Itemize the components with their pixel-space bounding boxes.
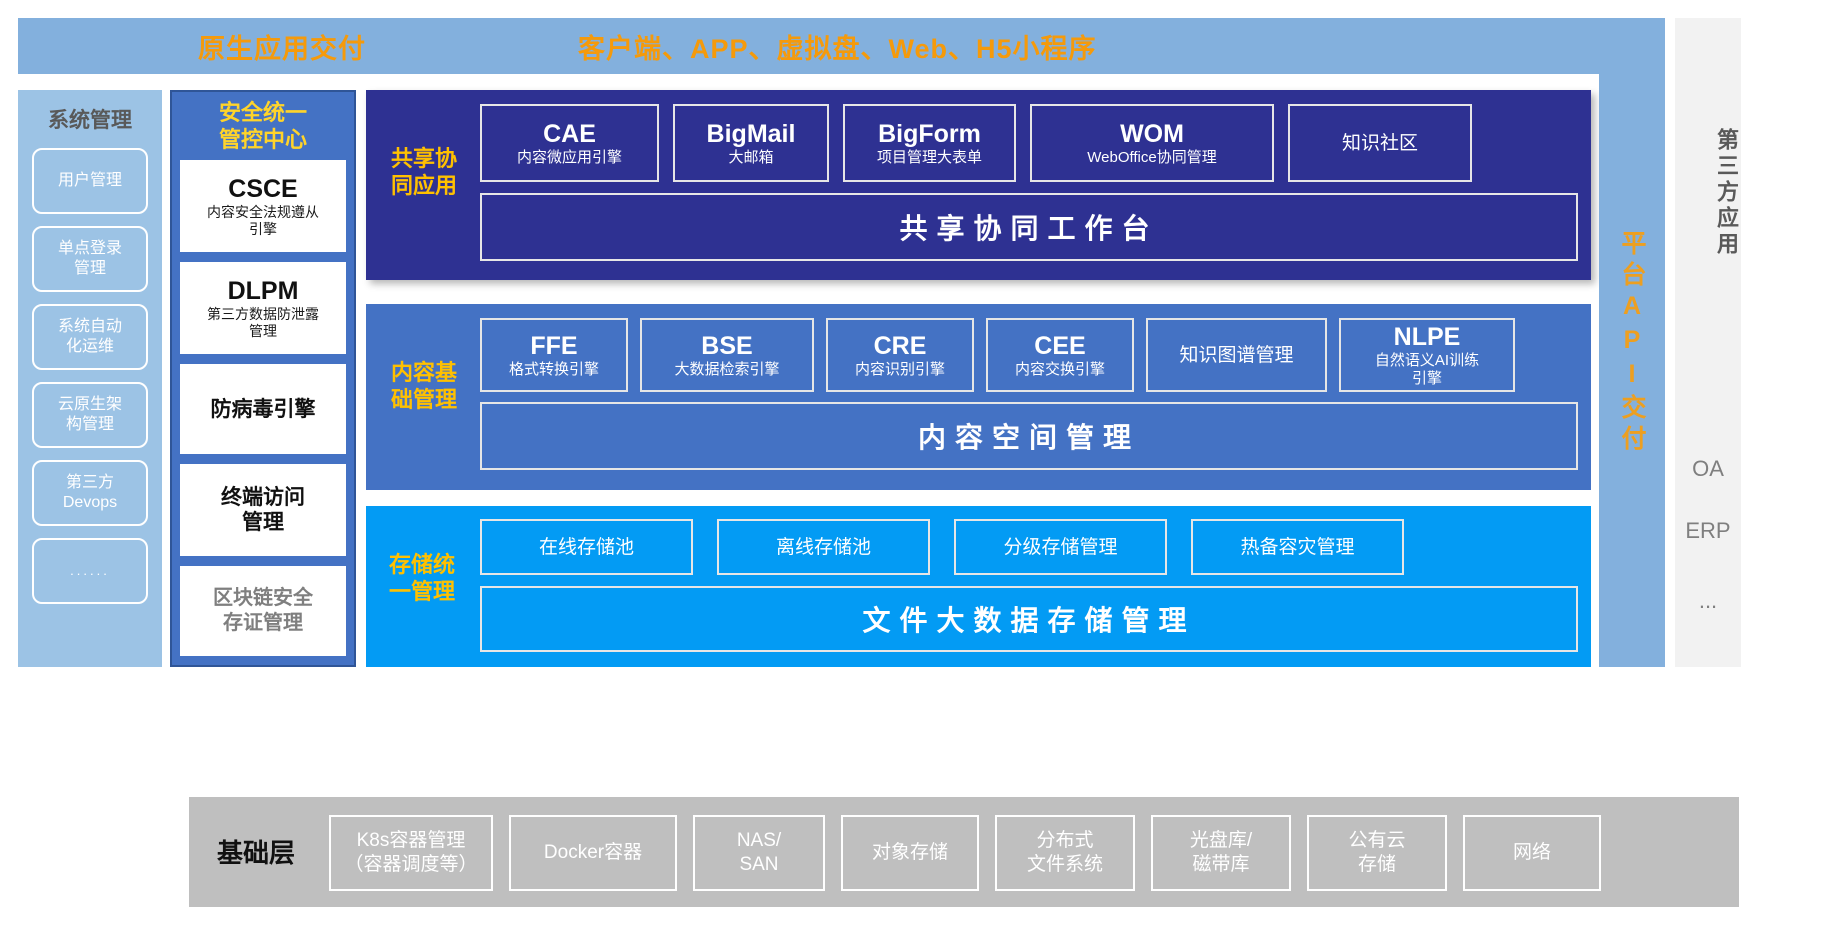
platform-api-delivery-column: 平台API交付 (1599, 18, 1665, 667)
shared-collaboration-chip[interactable]: WOMWebOffice协同管理 (1030, 104, 1274, 182)
storage-chips: 在线存储池离线存储池分级存储管理热备容灾管理 (480, 519, 1580, 575)
content-foundation-chip[interactable]: CEE内容交换引擎 (986, 318, 1134, 392)
infrastructure-items: K8s容器管理（容器调度等）Docker容器NAS/SAN对象存储分布式文件系统… (329, 815, 1719, 891)
shared-collaboration-workbench-bar[interactable]: 共享协同工作台 (480, 193, 1578, 261)
storage-chip[interactable]: 分级存储管理 (954, 519, 1167, 575)
chip-code: BSE (701, 331, 752, 361)
third-party-item[interactable]: OA (1675, 456, 1741, 482)
chip-subtitle: WebOffice协同管理 (1087, 149, 1216, 167)
infrastructure-layer: 基础层 K8s容器管理（容器调度等）Docker容器NAS/SAN对象存储分布式… (189, 797, 1739, 907)
chip-subtitle: 知识图谱管理 (1179, 344, 1293, 367)
security-item-code: 终端访问管理 (221, 485, 305, 535)
storage-unified-management-band: 存储统一管理 在线存储池离线存储池分级存储管理热备容灾管理 文件大数据存储管理 (366, 506, 1591, 667)
chip-code: BigMail (707, 119, 796, 149)
infrastructure-item[interactable]: 对象存储 (841, 815, 979, 891)
content-foundation-band: 内容基础管理 FFE格式转换引擎BSE大数据检索引擎CRE内容识别引擎CEE内容… (366, 304, 1591, 490)
security-item-subtitle: 第三方数据防泄露管理 (207, 306, 319, 340)
chip-subtitle: 热备容灾管理 (1240, 536, 1354, 559)
storage-chip[interactable]: 在线存储池 (480, 519, 693, 575)
content-foundation-chip[interactable]: 知识图谱管理 (1146, 318, 1327, 392)
chip-subtitle: 内容交换引擎 (1015, 361, 1105, 379)
security-item-code: 防病毒引擎 (211, 397, 316, 422)
security-center-item[interactable]: DLPM第三方数据防泄露管理 (180, 262, 346, 354)
system-management-items: 用户管理单点登录管理系统自动化运维云原生架构管理第三方Devops...... (18, 148, 162, 604)
infrastructure-item[interactable]: NAS/SAN (693, 815, 825, 891)
chip-code: BigForm (878, 119, 981, 149)
system-management-item[interactable]: 单点登录管理 (32, 226, 148, 292)
third-party-application-column: 第三方应用 OAERP... (1675, 18, 1741, 667)
security-center-title: 安全统一管控中心 (172, 92, 354, 160)
content-foundation-chip[interactable]: CRE内容识别引擎 (826, 318, 974, 392)
system-management-column: 系统管理 用户管理单点登录管理系统自动化运维云原生架构管理第三方Devops..… (18, 90, 162, 667)
chip-subtitle: 分级存储管理 (1003, 536, 1117, 559)
chip-code: CEE (1034, 331, 1085, 361)
chip-subtitle: 在线存储池 (539, 536, 634, 559)
content-foundation-chips: FFE格式转换引擎BSE大数据检索引擎CRE内容识别引擎CEE内容交换引擎知识图… (480, 318, 1580, 392)
infrastructure-title: 基础层 (217, 833, 295, 870)
storage-management-label: 存储统一管理 (374, 551, 470, 605)
storage-chip[interactable]: 离线存储池 (717, 519, 930, 575)
shared-collaboration-band: 共享协同应用 CAE内容微应用引擎BigMail大邮箱BigForm项目管理大表… (366, 90, 1591, 280)
shared-collaboration-chip[interactable]: BigForm项目管理大表单 (843, 104, 1016, 182)
content-foundation-label: 内容基础管理 (376, 359, 472, 413)
infrastructure-item[interactable]: 网络 (1463, 815, 1601, 891)
chip-subtitle: 知识社区 (1342, 132, 1418, 155)
third-party-title: 第三方应用 (1675, 128, 1741, 258)
chip-subtitle: 格式转换引擎 (509, 361, 599, 379)
shared-collaboration-chips: CAE内容微应用引擎BigMail大邮箱BigForm项目管理大表单WOMWeb… (480, 104, 1580, 182)
security-center-item[interactable]: 区块链安全存证管理 (180, 566, 346, 656)
chip-code: FFE (530, 331, 577, 361)
chip-subtitle: 大数据检索引擎 (674, 361, 779, 379)
banner-right-label: 客户端、APP、虚拟盘、Web、H5小程序 (578, 18, 1097, 74)
content-space-management-bar[interactable]: 内容空间管理 (480, 402, 1578, 470)
security-item-code: CSCE (228, 175, 297, 204)
system-management-item[interactable]: 系统自动化运维 (32, 304, 148, 370)
infrastructure-item[interactable]: 分布式文件系统 (995, 815, 1135, 891)
security-item-subtitle: 内容安全法规遵从引擎 (207, 204, 319, 238)
infrastructure-item[interactable]: 公有云存储 (1307, 815, 1447, 891)
chip-subtitle: 项目管理大表单 (877, 149, 982, 167)
system-management-item[interactable]: 云原生架构管理 (32, 382, 148, 448)
system-management-item[interactable]: 用户管理 (32, 148, 148, 214)
content-foundation-chip[interactable]: FFE格式转换引擎 (480, 318, 628, 392)
chip-code: NLPE (1394, 322, 1461, 352)
infrastructure-item[interactable]: K8s容器管理（容器调度等） (329, 815, 493, 891)
chip-subtitle: 内容识别引擎 (855, 361, 945, 379)
shared-collaboration-label: 共享协同应用 (376, 145, 472, 199)
storage-chip[interactable]: 热备容灾管理 (1191, 519, 1404, 575)
system-management-item[interactable]: 第三方Devops (32, 460, 148, 526)
content-foundation-chip[interactable]: NLPE自然语义AI训练引擎 (1339, 318, 1515, 392)
chip-code: CRE (874, 331, 927, 361)
chip-code: CAE (543, 119, 596, 149)
third-party-item[interactable]: ... (1675, 588, 1741, 614)
content-foundation-chip[interactable]: BSE大数据检索引擎 (640, 318, 814, 392)
banner-left-label: 原生应用交付 (198, 18, 366, 74)
file-bigdata-storage-bar[interactable]: 文件大数据存储管理 (480, 586, 1578, 652)
shared-collaboration-chip[interactable]: CAE内容微应用引擎 (480, 104, 659, 182)
security-center-item[interactable]: 终端访问管理 (180, 464, 346, 556)
security-control-center-column: 安全统一管控中心 CSCE内容安全法规遵从引擎DLPM第三方数据防泄露管理防病毒… (170, 90, 356, 667)
chip-subtitle: 自然语义AI训练引擎 (1375, 352, 1479, 388)
security-center-item[interactable]: CSCE内容安全法规遵从引擎 (180, 160, 346, 252)
chip-subtitle: 大邮箱 (728, 149, 773, 167)
security-item-code: DLPM (228, 277, 299, 306)
infrastructure-item[interactable]: 光盘库/磁带库 (1151, 815, 1291, 891)
shared-collaboration-chip[interactable]: BigMail大邮箱 (673, 104, 829, 182)
chip-code: WOM (1120, 119, 1184, 149)
infrastructure-item[interactable]: Docker容器 (509, 815, 677, 891)
system-management-title: 系统管理 (18, 90, 162, 148)
platform-api-delivery-label: 平台API交付 (1611, 230, 1653, 456)
chip-subtitle: 内容微应用引擎 (517, 149, 622, 167)
chip-subtitle: 离线存储池 (776, 536, 871, 559)
security-center-items: CSCE内容安全法规遵从引擎DLPM第三方数据防泄露管理防病毒引擎终端访问管理区… (172, 160, 354, 656)
native-app-delivery-banner: 原生应用交付 客户端、APP、虚拟盘、Web、H5小程序 (18, 18, 1603, 74)
system-management-item[interactable]: ...... (32, 538, 148, 604)
security-center-item[interactable]: 防病毒引擎 (180, 364, 346, 454)
security-item-code: 区块链安全存证管理 (213, 586, 313, 636)
third-party-item[interactable]: ERP (1675, 518, 1741, 544)
shared-collaboration-chip[interactable]: 知识社区 (1288, 104, 1472, 182)
